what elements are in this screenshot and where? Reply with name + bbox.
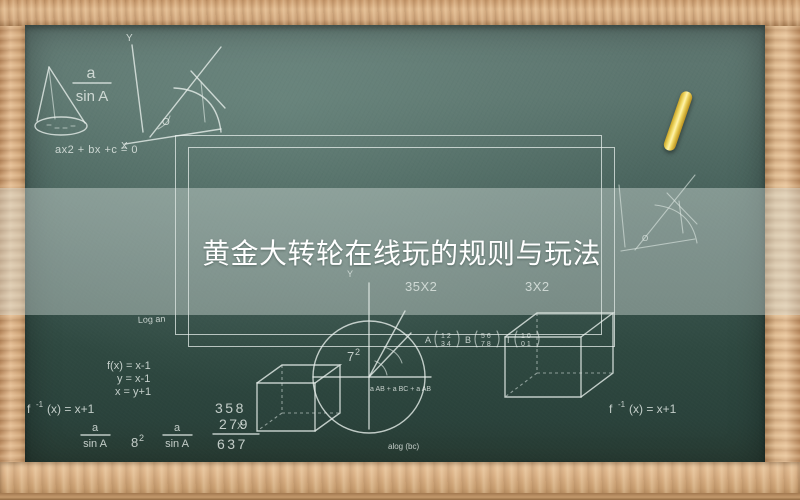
svg-text:A: A xyxy=(425,335,431,345)
fraction-denominator: sin A xyxy=(76,88,109,105)
inverse-f: f xyxy=(609,402,613,416)
svg-text:I: I xyxy=(507,335,510,345)
quadratic-equation: ax2 + bx +c = 0 xyxy=(55,144,138,156)
function-line-3: x = y+1 xyxy=(115,386,151,398)
function-line-2: y = x-1 xyxy=(117,373,150,385)
matrix-row: A 1 2 3 4 B 5 6 7 8 I 1 0 0 1 xyxy=(425,331,539,348)
inverse-f: f xyxy=(27,402,31,416)
inverse-exponent: -1 xyxy=(618,400,626,409)
inverse-exponent: -1 xyxy=(36,400,44,409)
svg-text:5 6: 5 6 xyxy=(481,333,491,340)
inverse-rest: (x) = x+1 xyxy=(629,402,677,416)
page-title: 黄金大转轮在线玩的规则与玩法 xyxy=(0,188,800,315)
log-label: Log an xyxy=(138,314,166,325)
angle-label: O xyxy=(162,117,170,128)
fraction-a-over-sinA-topleft: a sin A xyxy=(73,65,111,105)
chalk-ledge xyxy=(0,462,800,500)
subtraction-problem: 358 279 637 xyxy=(213,400,259,452)
fraction-numerator: a xyxy=(92,422,99,434)
axis-y-label: Y xyxy=(126,33,133,44)
svg-text:7 8: 7 8 xyxy=(481,341,491,348)
cube-drawing-right xyxy=(505,313,613,397)
power-eight-exponent: 2 xyxy=(139,433,144,443)
svg-text:3 4: 3 4 xyxy=(441,341,451,348)
function-line-1: f(x) = x-1 xyxy=(107,360,151,372)
power-eight: 8 xyxy=(131,435,138,450)
frame-top-rail xyxy=(0,0,800,26)
power-seven: 7 xyxy=(347,349,354,364)
axis-x-label: X xyxy=(121,141,128,152)
subtraction-result: 637 xyxy=(217,436,248,452)
fraction-a-over-sinA-bottom-2: a sin A xyxy=(163,422,192,450)
function-notes-bottom-center: f(x) = x-1 y = x-1 x = y+1 xyxy=(107,360,151,398)
svg-text:B: B xyxy=(465,335,471,345)
subtraction-minuend: 358 xyxy=(215,400,246,416)
yellow-chalk-stick[interactable] xyxy=(662,90,694,153)
cube-drawing-center xyxy=(257,365,340,431)
small-expression: a AB + a BC + a AB xyxy=(370,386,431,393)
cone-drawing xyxy=(35,67,87,135)
power-seven-exponent: 2 xyxy=(355,347,360,357)
fraction-numerator: a xyxy=(87,65,96,82)
chalkboard-banner: a sin A Y X O ax2 + bx +c = 0 xyxy=(0,0,800,500)
axis-x-label-right: X xyxy=(237,421,243,431)
inverse-function-note-right: f -1 (x) = x+1 xyxy=(609,400,677,416)
angle-axes-drawing: Y X O xyxy=(121,33,225,152)
fraction-denominator: sin A xyxy=(165,438,190,450)
svg-text:1 0: 1 0 xyxy=(521,333,531,340)
inverse-function-note: f -1 (x) = x+1 xyxy=(27,400,95,416)
svg-text:0 1: 0 1 xyxy=(521,341,531,348)
log-expression: alog (bc) xyxy=(388,442,419,451)
inverse-rest: (x) = x+1 xyxy=(47,402,95,416)
fraction-a-over-sinA-bottom-1: a sin A xyxy=(81,422,110,450)
fraction-denominator: sin A xyxy=(83,438,108,450)
fraction-numerator: a xyxy=(174,422,181,434)
subtraction-subtrahend: 279 xyxy=(219,416,250,432)
svg-text:1 2: 1 2 xyxy=(441,333,451,340)
chalk-ledge-lip xyxy=(0,493,800,500)
